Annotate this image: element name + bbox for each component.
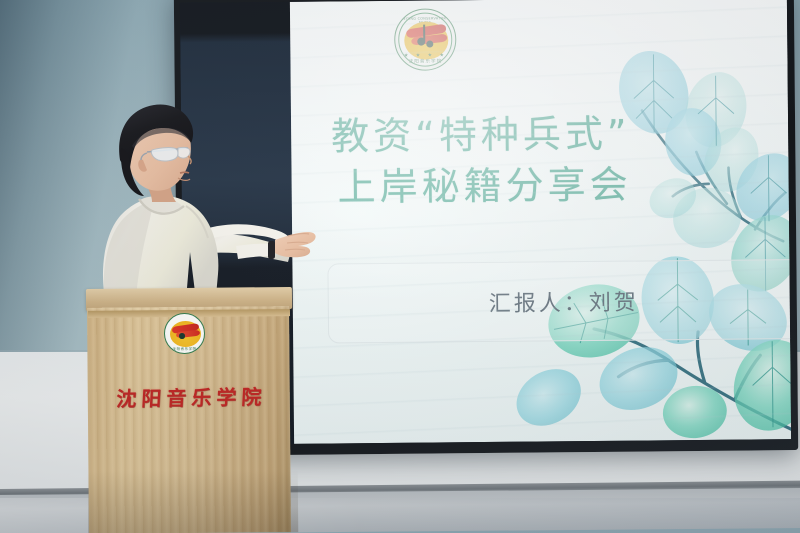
podium-name-plate: 沈阳音乐学院 bbox=[103, 381, 280, 412]
podium-floor-shadow bbox=[88, 469, 299, 533]
podium-music-note-icon bbox=[179, 333, 185, 339]
presenter-head bbox=[119, 104, 193, 196]
wristwatch-icon bbox=[268, 241, 275, 259]
lecture-hall-photo: SHENYANG CONSERVATORY OF MUSIC ★ ★ ★ ★ 沈… bbox=[0, 0, 800, 533]
podium-emblem-school-name: 沈阳音乐学院 bbox=[165, 346, 204, 351]
podium-school-emblem: 沈阳音乐学院 bbox=[164, 313, 205, 354]
presenter-torso bbox=[103, 196, 218, 300]
